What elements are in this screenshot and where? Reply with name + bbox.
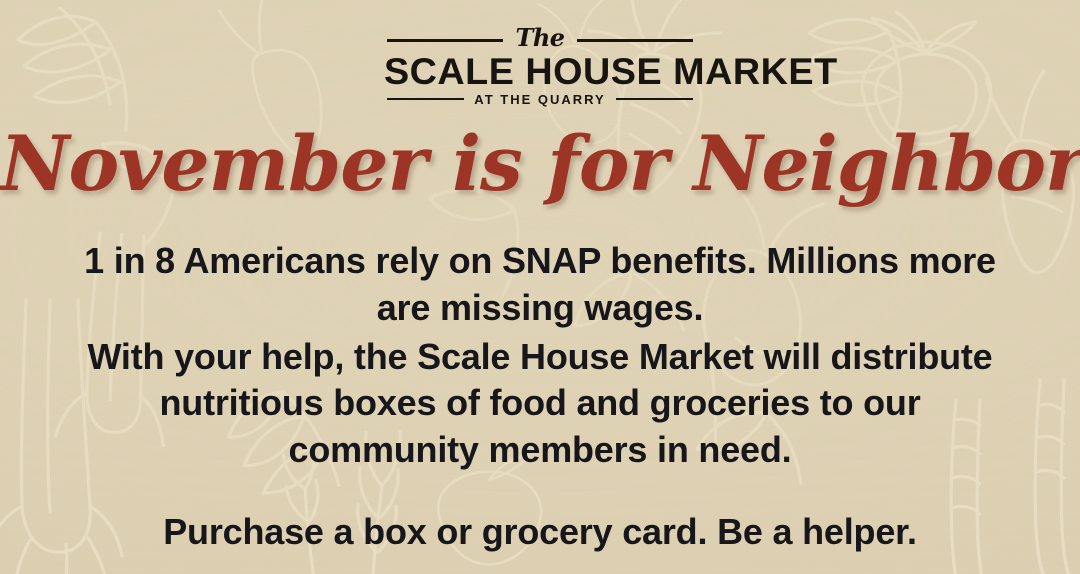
body-copy: 1 in 8 Americans rely on SNAP benefits. …	[60, 238, 1020, 474]
logo-rule-right	[577, 39, 693, 42]
logo-sub-rule-left	[387, 98, 464, 101]
logo-bottom-row: AT THE QUARRY	[387, 93, 693, 106]
body-paragraph-2: With your help, the Scale House Market w…	[60, 334, 1020, 474]
promo-poster: The SCALE HOUSE MARKET AT THE QUARRY Nov…	[0, 0, 1080, 574]
logo-top-row: The	[387, 28, 693, 52]
logo-sub-rule-right	[616, 98, 693, 101]
headline: November is for Neighbors	[0, 126, 1080, 202]
logo-the-script: The	[513, 26, 566, 50]
logo-rule-left	[387, 39, 503, 42]
logo-wordmark: SCALE HOUSE MARKET	[384, 53, 696, 91]
call-to-action-text: Purchase a box or grocery card. Be a hel…	[60, 510, 1020, 553]
body-paragraph-1: 1 in 8 Americans rely on SNAP benefits. …	[60, 238, 1020, 332]
logo-tagline: AT THE QUARRY	[473, 93, 606, 106]
brand-logo: The SCALE HOUSE MARKET AT THE QUARRY	[387, 28, 693, 106]
